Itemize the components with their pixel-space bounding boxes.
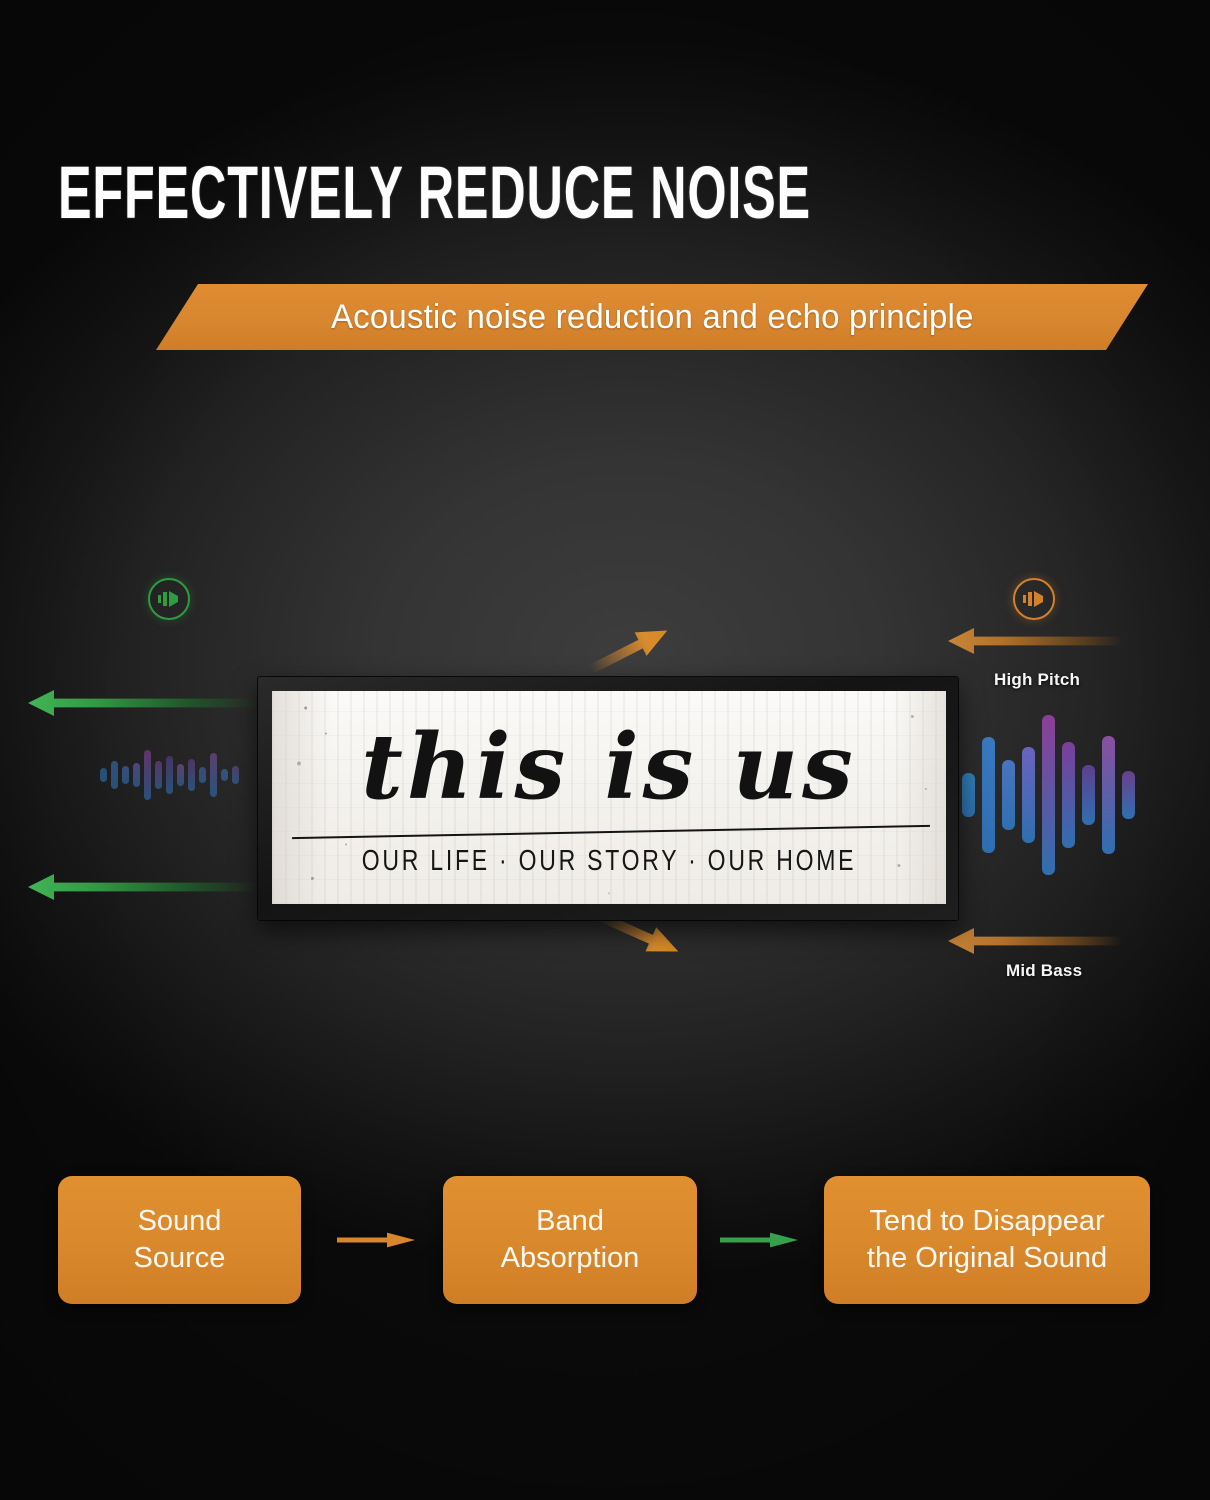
- waveform-bar: [1102, 736, 1115, 854]
- subtitle-banner-text: Acoustic noise reduction and echo princi…: [331, 298, 974, 337]
- waveform-bar: [177, 764, 184, 785]
- waveform-bar: [962, 773, 975, 818]
- flow-arrow-2: [720, 1232, 798, 1248]
- waveform-bar: [133, 763, 140, 788]
- waveform-bar: [155, 761, 162, 790]
- flow-step-disappear: Tend to Disappear the Original Sound: [824, 1176, 1150, 1304]
- waveform-bar: [199, 767, 206, 783]
- mid-bass-label: Mid Bass: [1006, 961, 1082, 981]
- waveform-bar: [1062, 742, 1075, 848]
- sign-subtitle-text: OUR LIFE · OUR STORY · OUR HOME: [299, 845, 919, 878]
- flow-step-2-line1: Band: [536, 1203, 604, 1240]
- waveform-bar: [982, 737, 995, 852]
- waveform-bar: [144, 750, 151, 801]
- flow-step-band-absorption: Band Absorption: [443, 1176, 697, 1304]
- flow-step-3-line1: Tend to Disappear: [869, 1203, 1104, 1240]
- incoming-waveform: [962, 715, 1135, 875]
- flow-step-3-line2: the Original Sound: [867, 1240, 1107, 1277]
- incoming-high-pitch-arrow: [948, 628, 1123, 654]
- speaker-icon-left: [148, 578, 190, 620]
- flow-step-1-line2: Source: [134, 1240, 226, 1277]
- subtitle-banner: Acoustic noise reduction and echo princi…: [156, 284, 1148, 350]
- page-title: EFFECTIVELY REDUCE NOISE: [58, 152, 811, 235]
- waveform-bar: [188, 759, 195, 791]
- waveform-bar: [1042, 715, 1055, 875]
- speaker-icon-right: [1013, 578, 1055, 620]
- waveform-bar: [166, 756, 173, 793]
- waveform-bar: [221, 769, 228, 781]
- waveform-bar: [1082, 765, 1095, 826]
- infographic-canvas: EFFECTIVELY REDUCE NOISE Acoustic noise …: [0, 0, 1210, 1500]
- outgoing-sound-arrow-top: [28, 690, 258, 716]
- waveform-bar: [111, 761, 118, 790]
- outgoing-sound-arrow-bottom: [28, 874, 258, 900]
- flow-step-sound-source: Sound Source: [58, 1176, 301, 1304]
- waveform-bar: [1122, 771, 1135, 819]
- sign-script-text: this is us: [272, 697, 946, 837]
- flow-step-1-line1: Sound: [138, 1203, 222, 1240]
- waveform-bar: [100, 768, 107, 783]
- flow-arrow-1: [337, 1232, 415, 1248]
- waveform-bar: [122, 766, 129, 785]
- flow-step-2-line2: Absorption: [501, 1240, 640, 1277]
- high-pitch-label: High Pitch: [994, 670, 1080, 690]
- product-sign: this is us OUR LIFE · OUR STORY · OUR HO…: [258, 677, 958, 920]
- absorption-arrow-upper-outer: [584, 617, 674, 683]
- waveform-bar: [210, 753, 217, 796]
- waveform-bar: [232, 766, 239, 785]
- waveform-bar: [1002, 760, 1015, 830]
- incoming-mid-bass-arrow: [948, 928, 1123, 954]
- waveform-bar: [1022, 747, 1035, 843]
- sign-panel: this is us OUR LIFE · OUR STORY · OUR HO…: [272, 691, 946, 904]
- residual-waveform: [100, 740, 239, 810]
